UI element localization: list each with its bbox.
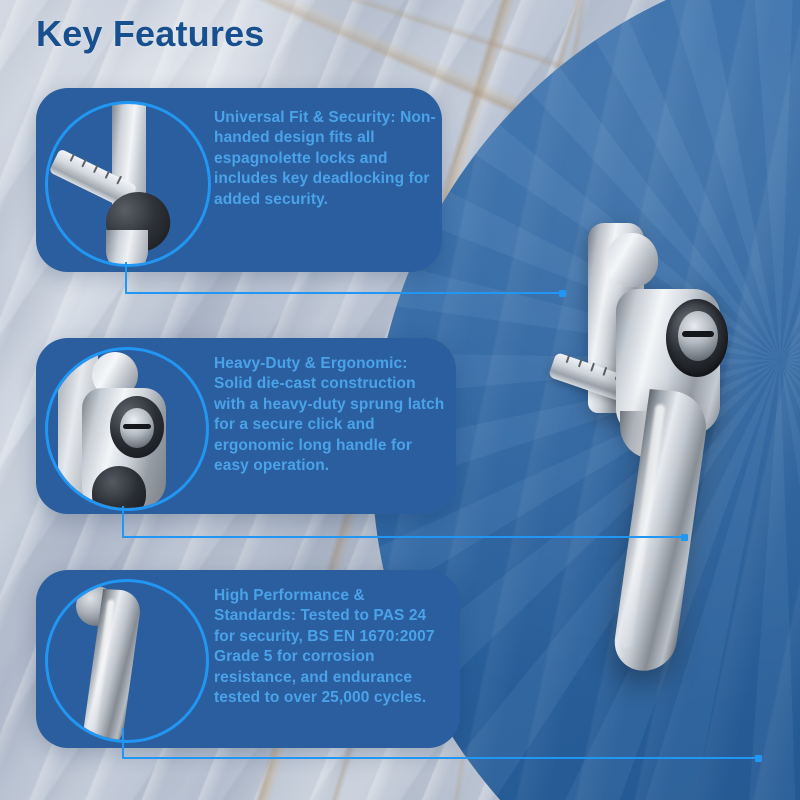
- feature-card-2[interactable]: Heavy-Duty & Ergonomic: Solid die-cast c…: [36, 338, 456, 514]
- feature-text-1: Universal Fit & Security: Non-handed des…: [214, 108, 436, 210]
- page-title: Key Features: [36, 13, 265, 55]
- lever-handle-closeup-icon: [48, 582, 206, 740]
- connector-2-horizontal: [122, 536, 685, 538]
- connector-2-vertical: [122, 506, 124, 538]
- feature-text-2: Heavy-Duty & Ergonomic: Solid die-cast c…: [214, 354, 446, 477]
- connector-1-horizontal: [125, 292, 563, 294]
- feature-thumbnail-2: [45, 347, 209, 511]
- spindle-and-latch-closeup-icon: [48, 104, 208, 264]
- feature-card-1[interactable]: Universal Fit & Security: Non-handed des…: [36, 88, 442, 272]
- lock-barrel-closeup-icon: [48, 350, 206, 508]
- connector-3-endpoint: [755, 755, 762, 762]
- key-features-infographic: Universal Fit & Security: Non-handed des…: [0, 0, 800, 800]
- feature-thumbnail-3: [45, 579, 209, 743]
- connector-3-vertical: [122, 728, 124, 758]
- connector-3-horizontal: [122, 757, 759, 759]
- connector-1-vertical: [125, 262, 127, 294]
- feature-text-3: High Performance & Standards: Tested to …: [214, 586, 450, 709]
- connector-2-endpoint: [681, 534, 688, 541]
- feature-thumbnail-1: [45, 101, 211, 267]
- feature-card-3[interactable]: High Performance & Standards: Tested to …: [36, 570, 460, 748]
- connector-1-endpoint: [559, 290, 566, 297]
